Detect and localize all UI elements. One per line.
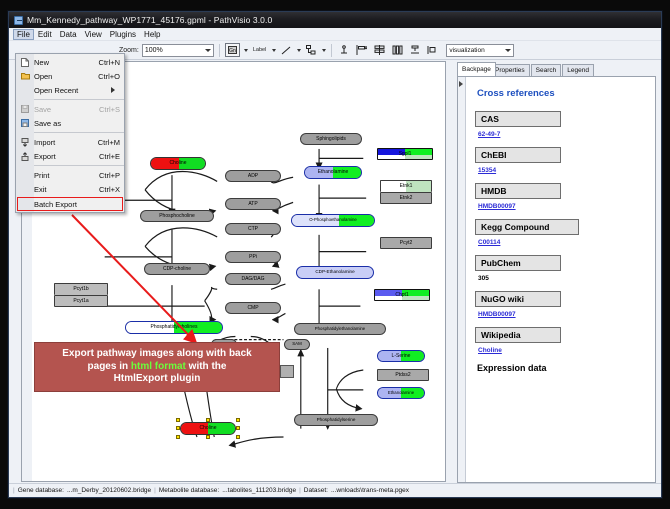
expand-arrow-icon-2[interactable]: [459, 81, 463, 87]
callout-line-1: Export pathway images along with back: [62, 348, 252, 361]
menu-item-new-shortcut: Ctrl+N: [99, 58, 124, 67]
menu-item-open[interactable]: Open Ctrl+O: [16, 69, 124, 83]
xref-value-chebi[interactable]: 15354: [475, 167, 647, 174]
datanode-dropdown-icon[interactable]: [244, 49, 248, 52]
chevron-down-icon: [205, 49, 211, 52]
callout-line-2b: with the: [186, 361, 227, 372]
align-left-icon[interactable]: [354, 43, 369, 57]
title-bar: Mm_Kennedy_pathway_WP1771_45176.gpml - P…: [9, 12, 661, 28]
status-gene-db-value: ...m_Derby_20120602.bridge: [67, 487, 151, 494]
menu-item-exit-shortcut: Ctrl+X: [99, 185, 124, 194]
distribute-icon[interactable]: [390, 43, 405, 57]
backpage-panel: Cross references CAS 62-49-7 ChEBI 15354…: [457, 76, 656, 483]
tab-search[interactable]: Search: [531, 64, 562, 76]
status-sep-1: |: [154, 487, 156, 494]
tab-legend[interactable]: Legend: [562, 64, 594, 76]
menu-item-import-label: Import: [34, 138, 98, 147]
interaction-icon[interactable]: [304, 43, 318, 57]
visualization-value: visualization: [449, 47, 484, 54]
xref-source-chebi: ChEBI: [475, 147, 561, 163]
interaction-dropdown-icon[interactable]: [322, 49, 326, 52]
zoom-value: 100%: [145, 47, 163, 54]
menu-item-batch-export[interactable]: Batch Export: [17, 197, 123, 211]
menu-item-save-shortcut: Ctrl+S: [99, 105, 124, 114]
callout-highlight: html format: [131, 361, 186, 372]
callout-line-2a: pages in: [88, 361, 131, 372]
menu-item-open-shortcut: Ctrl+O: [98, 72, 124, 81]
status-sep-2: |: [299, 487, 301, 494]
backpage-gutter: [458, 77, 466, 482]
xref-source-wikipedia: Wikipedia: [475, 327, 561, 343]
menu-item-new[interactable]: New Ctrl+N: [16, 55, 124, 69]
xref-value-wikipedia[interactable]: Choline: [475, 347, 647, 354]
menu-item-print-label: Print: [34, 171, 99, 180]
import-icon: [16, 138, 34, 147]
xref-value-pubchem: 305: [475, 275, 647, 282]
visualization-combobox[interactable]: visualization: [446, 44, 514, 57]
zoom-combobox[interactable]: 100%: [142, 44, 214, 57]
menu-item-save-label: Save: [34, 105, 99, 114]
menu-item-save-as-label: Save as: [34, 119, 120, 128]
menu-item-open-recent-label: Open Recent: [34, 86, 111, 95]
menu-item-exit[interactable]: Exit Ctrl+X: [16, 182, 124, 196]
menu-separator-3: [34, 165, 124, 166]
file-menu-popup[interactable]: New Ctrl+N Open Ctrl+O Open Recent Save …: [15, 53, 125, 213]
tab-backpage[interactable]: Backpage: [457, 62, 496, 76]
toolbar-separator-2: [331, 44, 332, 57]
chevron-down-icon-2: [505, 49, 511, 52]
label-dropdown-icon[interactable]: [272, 49, 276, 52]
tab-properties[interactable]: Properties: [490, 64, 530, 76]
line-icon[interactable]: [279, 43, 293, 57]
backpage-content: Cross references CAS 62-49-7 ChEBI 15354…: [467, 77, 655, 482]
save-as-icon: [16, 119, 34, 127]
submenu-arrow-icon: [111, 87, 119, 93]
status-bar: | Gene database: ...m_Derby_20120602.bri…: [9, 483, 661, 497]
menu-item-save: Save Ctrl+S: [16, 102, 124, 116]
line-dropdown-icon[interactable]: [297, 49, 301, 52]
menu-file[interactable]: File: [13, 29, 34, 40]
menu-item-print-shortcut: Ctrl+P: [99, 171, 124, 180]
xref-value-hmdb[interactable]: HMDB00097: [475, 203, 647, 210]
menu-item-batch-export-label: Batch Export: [34, 200, 122, 209]
align-center-icon[interactable]: [372, 43, 387, 57]
open-folder-icon: [16, 72, 34, 80]
anchor-icon[interactable]: [337, 43, 351, 57]
toolbar-separator: [219, 44, 220, 57]
datanode-icon[interactable]: Gn: [225, 43, 240, 57]
xref-source-nugo: NuGO wiki: [475, 291, 561, 307]
expression-data-heading: Expression data: [477, 363, 647, 373]
menu-view[interactable]: View: [81, 29, 106, 40]
menu-separator-2: [34, 132, 124, 133]
status-metabolite-db-label: Metabolite database:: [159, 487, 219, 494]
pathvisio-icon: [14, 16, 23, 25]
callout-line-3: HtmlExport plugin: [62, 373, 252, 386]
xref-source-kegg: Kegg Compound: [475, 219, 579, 235]
save-disk-icon: [16, 105, 34, 113]
menu-item-new-label: New: [34, 58, 99, 67]
menu-bar: File Edit Data View Plugins Help: [9, 28, 661, 41]
svg-text:Gn: Gn: [229, 48, 236, 54]
screen-frame: Mm_Kennedy_pathway_WP1771_45176.gpml - P…: [0, 0, 670, 509]
menu-item-open-label: Open: [34, 72, 98, 81]
menu-item-import-shortcut: Ctrl+M: [98, 138, 124, 147]
status-gene-db-label: Gene database:: [18, 487, 64, 494]
menu-help[interactable]: Help: [140, 29, 164, 40]
menu-plugins[interactable]: Plugins: [106, 29, 140, 40]
menu-item-import[interactable]: Import Ctrl+M: [16, 135, 124, 149]
label-button[interactable]: Label: [251, 43, 268, 57]
window-title: Mm_Kennedy_pathway_WP1771_45176.gpml - P…: [27, 15, 272, 25]
menu-data[interactable]: Data: [56, 29, 81, 40]
status-sep-0: |: [13, 487, 15, 494]
menu-edit[interactable]: Edit: [34, 29, 56, 40]
xref-source-hmdb: HMDB: [475, 183, 561, 199]
xref-source-pubchem: PubChem: [475, 255, 561, 271]
status-dataset-label: Dataset:: [304, 487, 328, 494]
xref-source-cas: CAS: [475, 111, 561, 127]
group-icon[interactable]: [425, 43, 439, 57]
side-panel: Objects Properties Backpage Search Legen…: [448, 60, 659, 483]
xref-value-cas[interactable]: 62-49-7: [475, 131, 647, 138]
stack-icon[interactable]: [408, 43, 422, 57]
cross-references-heading: Cross references: [477, 88, 647, 99]
status-dataset-value: ...wnloads\trans-meta.pgex: [331, 487, 409, 494]
annotation-callout: Export pathway images along with back pa…: [34, 342, 280, 392]
menu-item-print[interactable]: Print Ctrl+P: [16, 168, 124, 182]
menu-item-save-as[interactable]: Save as: [16, 116, 124, 130]
menu-item-export[interactable]: Export Ctrl+E: [16, 149, 124, 163]
menu-item-open-recent[interactable]: Open Recent: [16, 83, 124, 97]
callout-line-2: pages in html format with the: [62, 361, 252, 374]
xref-value-nugo[interactable]: HMDB00097: [475, 311, 647, 318]
menu-item-exit-label: Exit: [34, 185, 99, 194]
new-file-icon: [16, 58, 34, 67]
application-window: Mm_Kennedy_pathway_WP1771_45176.gpml - P…: [8, 11, 662, 498]
side-panel-tabs: Objects Properties Backpage Search Legen…: [448, 61, 659, 76]
menu-item-export-label: Export: [34, 152, 99, 161]
status-metabolite-db-value: ...tabolites_111203.bridge: [222, 487, 296, 494]
xref-value-kegg[interactable]: C00114: [475, 239, 647, 246]
menu-item-export-shortcut: Ctrl+E: [99, 152, 124, 161]
menu-separator-1: [34, 99, 124, 100]
pathway-group-handle[interactable]: [280, 365, 294, 378]
export-icon: [16, 152, 34, 161]
